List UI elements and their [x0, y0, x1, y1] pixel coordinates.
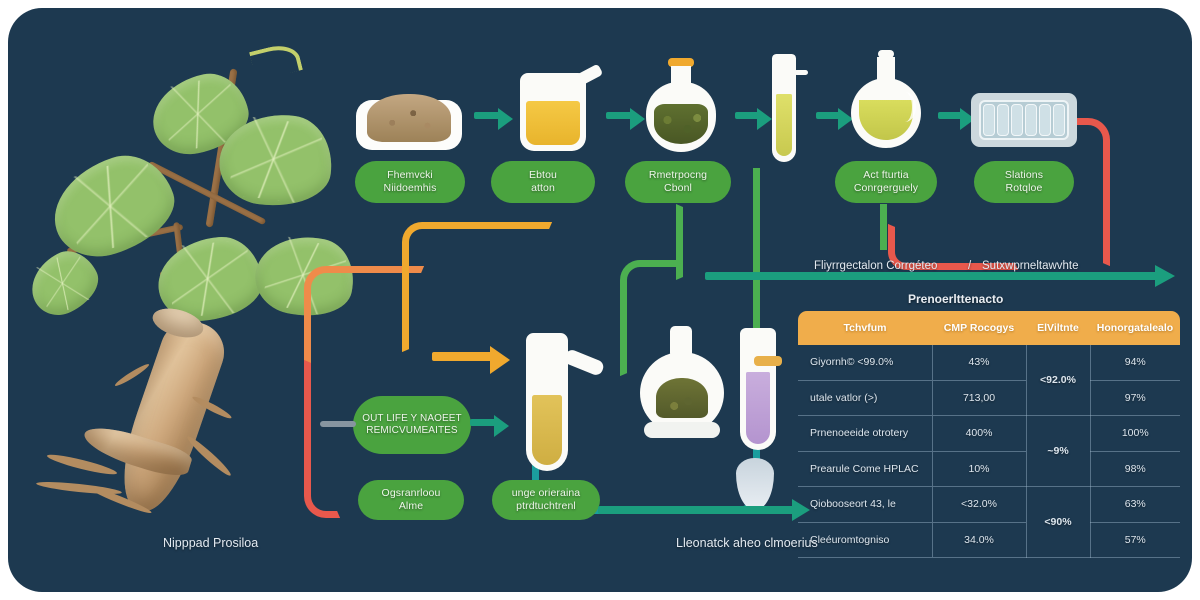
- cell-homogeneity: 94%: [1090, 345, 1180, 380]
- cell-homogeneity: 98%: [1090, 451, 1180, 487]
- process-label-5[interactable]: Act fturtia Conrgerguely: [835, 161, 937, 203]
- results-table-head: Tchvfum CMP Rocogys ElViltnte Honorgatal…: [798, 311, 1180, 345]
- lower-main-label-line1: OUT LIFE Y NAOEET: [362, 413, 462, 425]
- plant-rootlet: [113, 362, 150, 388]
- results-table-block: Prenoerlttenacto Tchvfum CMP Rocogys ElV…: [790, 286, 1180, 536]
- process-label-6-line1: Slations: [1005, 169, 1043, 182]
- connector-grey-stub: [320, 421, 356, 427]
- plant-root: [108, 313, 232, 519]
- cell-homogeneity: 63%: [1090, 487, 1180, 523]
- cell-cmp: 713,00: [932, 380, 1026, 416]
- plant-leaf: [41, 143, 185, 268]
- table-row[interactable]: Qiobooseort 43, le <32.0% <90% 63%: [798, 487, 1180, 523]
- lower-pill-2-line1: unge orieraina: [512, 487, 581, 500]
- process-label-3[interactable]: Rmetrpocng Cbonl: [625, 161, 731, 203]
- process-label-5-line1: Act fturtia: [863, 169, 908, 182]
- connector-red: [304, 360, 340, 518]
- process-label-2-line1: Ebtou: [529, 169, 557, 182]
- process-label-1-line1: Fhemvcki: [387, 169, 433, 182]
- table-row[interactable]: Prnenoeeide otrotery 400% ~9% 100%: [798, 416, 1180, 452]
- lower-pill-2[interactable]: unge orieraina ptrdtuchtrenl: [492, 480, 600, 520]
- table-row[interactable]: Giyornh© <99.0% 43% <92.0% 94%: [798, 345, 1180, 380]
- mid-bus-divider-text: /: [968, 260, 971, 272]
- process-label-2-line2: atton: [531, 182, 555, 195]
- results-table: Tchvfum CMP Rocogys ElViltnte Honorgatal…: [798, 311, 1180, 558]
- caption-bottom-left: Nipppad Prosiloa: [163, 536, 258, 550]
- cell-technique: Prearule Come HPLAC: [798, 451, 932, 487]
- cell-technique: Giyornh© <99.0%: [798, 345, 932, 380]
- lower-pill-1-line1: Ogsranrloou: [382, 487, 441, 500]
- process-label-6[interactable]: Slations Rotqloe: [974, 161, 1074, 203]
- side-arm-test-tube-icon: [520, 333, 606, 473]
- cell-eluent-merged: <92.0%: [1026, 345, 1090, 416]
- plant-bud-icon: [249, 41, 303, 82]
- process-label-1[interactable]: Fhemvcki Niidoemhis: [355, 161, 465, 203]
- cell-technique: Cleéuromtogniso: [798, 522, 932, 558]
- cell-cmp: 43%: [932, 345, 1026, 380]
- powder-dish-icon: [356, 90, 462, 150]
- infographic-canvas: Fhemvcki Niidoemhis Ebtou atton: [0, 0, 1200, 600]
- results-table-body: Giyornh© <99.0% 43% <92.0% 94% utale vat…: [798, 345, 1180, 558]
- process-label-3-line1: Rmetrpocng: [649, 169, 707, 182]
- table-row[interactable]: Prearule Come HPLAC 10% 98%: [798, 451, 1180, 487]
- results-table-title: Prenoerlttenacto: [908, 292, 1003, 306]
- beaker-yellow-icon: [520, 63, 600, 151]
- table-row[interactable]: utale vatlor (>) 713,00 97%: [798, 380, 1180, 416]
- process-label-2[interactable]: Ebtou atton: [491, 161, 595, 203]
- plant-rootlet: [185, 434, 233, 479]
- col-header-homogeneity[interactable]: Honorgatalealo: [1090, 311, 1180, 345]
- table-row[interactable]: Cleéuromtogniso 34.0% 57%: [798, 522, 1180, 558]
- connector-green: [880, 204, 887, 250]
- cell-homogeneity: 97%: [1090, 380, 1180, 416]
- cell-eluent-merged: <90%: [1026, 487, 1090, 558]
- cell-cmp: 400%: [932, 416, 1026, 452]
- mid-bus-label-right-text: Sutxwprneltawvhte: [982, 260, 1079, 272]
- mid-bus-label-left-text: Fliyrrgectalon Corrgéteo: [814, 260, 937, 272]
- purple-test-tube-icon: [734, 328, 782, 456]
- vial-tray-icon: [971, 93, 1077, 147]
- table-header-row: Tchvfum CMP Rocogys ElViltnte Honorgatal…: [798, 311, 1180, 345]
- connector-green: [753, 168, 760, 278]
- process-label-1-line2: Niidoemhis: [384, 182, 437, 195]
- lower-pill-2-line2: ptrdtuchtrenl: [516, 500, 576, 513]
- cell-technique: Qiobooseort 43, le: [798, 487, 932, 523]
- col-header-eluent[interactable]: ElViltnte: [1026, 311, 1090, 345]
- lower-pill-1[interactable]: Ogsranrloou Alme: [358, 480, 464, 520]
- cell-cmp: 34.0%: [932, 522, 1026, 558]
- cell-technique: Prnenoeeide otrotery: [798, 416, 932, 452]
- infographic-board: Fhemvcki Niidoemhis Ebtou atton: [8, 8, 1192, 592]
- cell-homogeneity: 100%: [1090, 416, 1180, 452]
- caption-bottom-center: Lleonatck aheo clmoerius: [676, 536, 818, 550]
- round-flask-icon: [848, 50, 924, 150]
- lower-main-label-line2: REMICVUMEAITES: [366, 425, 457, 437]
- cell-homogeneity: 57%: [1090, 522, 1180, 558]
- col-header-cmp[interactable]: CMP Rocogys: [932, 311, 1026, 345]
- flask-herbs-icon: [644, 58, 718, 152]
- process-label-3-line2: Cbonl: [664, 182, 692, 195]
- test-tube-icon: [764, 54, 804, 164]
- cell-cmp: 10%: [932, 451, 1026, 487]
- cell-technique: utale vatlor (>): [798, 380, 932, 416]
- lower-main-label[interactable]: OUT LIFE Y NAOEET REMICVUMEAITES: [353, 396, 471, 454]
- cell-eluent-merged: ~9%: [1026, 416, 1090, 487]
- cell-cmp: <32.0%: [932, 487, 1026, 523]
- col-header-technique[interactable]: Tchvfum: [798, 311, 932, 345]
- process-label-5-line2: Conrgerguely: [854, 182, 918, 195]
- lower-pill-1-line2: Alme: [399, 500, 423, 513]
- round-flask-powder-icon: [640, 326, 724, 438]
- process-label-6-line2: Rotqloe: [1006, 182, 1043, 195]
